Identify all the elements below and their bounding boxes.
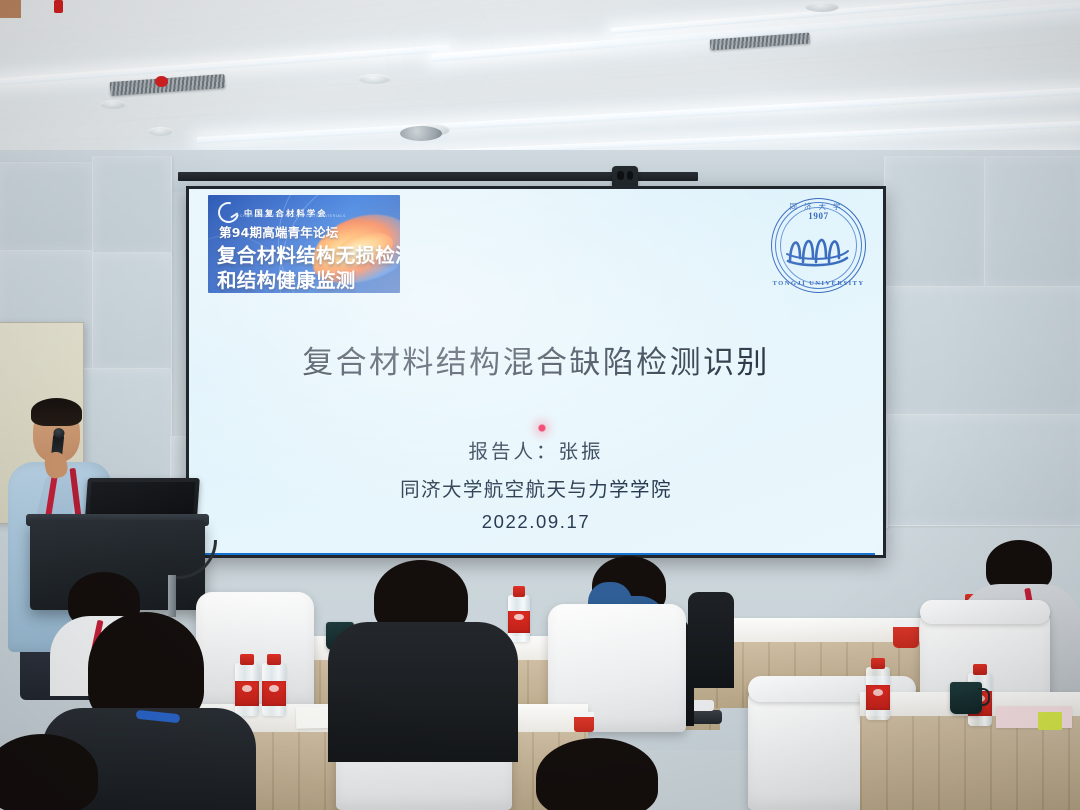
water-bottle <box>508 586 530 642</box>
slide-accent-rule <box>197 553 875 555</box>
chair-headrest <box>920 600 1050 624</box>
conference-presentation-photo: 中国复合材料学会 CHINESE SOCIETY FOR COMPOSITE M… <box>0 0 1080 810</box>
presenter-neck <box>0 0 21 18</box>
sticky-note <box>1038 712 1062 730</box>
wall-panel <box>884 156 986 288</box>
wall-panel <box>984 156 1080 288</box>
bottle-cap <box>513 586 525 597</box>
fire-sprinkler-icon <box>54 0 63 13</box>
wall-panel <box>92 156 172 254</box>
table-skirt <box>860 716 1080 810</box>
slide-affiliation: 同济大学航空航天与力学学院 <box>189 473 883 502</box>
water-bottle <box>262 654 286 716</box>
bottle-cap <box>267 654 280 665</box>
paper-cup <box>893 620 919 648</box>
fire-sprinkler-icon <box>155 76 168 87</box>
conference-banner: 中国复合材料学会 CHINESE SOCIETY FOR COMPOSITE M… <box>208 195 400 293</box>
bottle-label <box>235 681 259 706</box>
mug <box>950 682 982 714</box>
bottle-cap <box>871 658 884 669</box>
bottle-label <box>262 681 286 706</box>
slide-title: 复合材料结构混合缺陷检测识别 <box>189 337 883 382</box>
ceiling-downlight <box>100 100 126 109</box>
banner-topic-line-2: 和结构健康监测 <box>217 264 356 293</box>
audience-shoulders <box>328 622 518 762</box>
slide-presenter: 报告人：张振 <box>189 435 883 464</box>
seal-boat-icon <box>785 224 852 268</box>
seal-founded-year: 1907 <box>771 211 866 221</box>
water-bottle <box>866 658 890 720</box>
paper-cup <box>574 712 594 732</box>
ceiling-downlight <box>358 74 391 84</box>
tongji-seal-icon: 同济大学 1907 TONGJI UNIVERSITY <box>771 198 866 293</box>
society-name-en: CHINESE SOCIETY FOR COMPOSITE MATERIALS <box>240 214 346 218</box>
wall-panel <box>0 162 94 252</box>
equipment-stand <box>168 575 176 617</box>
wall-panel <box>884 286 1080 416</box>
laser-dot-icon <box>538 424 546 432</box>
bottle-cap <box>240 654 253 665</box>
slide-date: 2022.09.17 <box>189 511 883 533</box>
bottle-label <box>866 685 890 710</box>
ceiling-downlight <box>805 2 839 12</box>
bottle-label <box>508 611 530 633</box>
presenter-hair <box>31 398 82 426</box>
seal-university-en: TONGJI UNIVERSITY <box>771 280 866 287</box>
audience-shoulders <box>688 592 734 688</box>
audience-hair <box>536 738 658 810</box>
water-bottle <box>235 654 259 716</box>
wall-panel <box>92 252 172 370</box>
ceiling-downlight <box>148 127 173 136</box>
bottle-cap <box>973 664 986 675</box>
camera-icon <box>612 166 638 188</box>
projection-screen: 中国复合材料学会 CHINESE SOCIETY FOR COMPOSITE M… <box>186 186 886 558</box>
society-logo-row: 中国复合材料学会 <box>218 202 328 223</box>
presenter <box>0 0 21 18</box>
ceiling-speaker-icon <box>400 126 442 141</box>
wall-panel <box>884 414 1080 526</box>
slide-surface: 中国复合材料学会 CHINESE SOCIETY FOR COMPOSITE M… <box>189 189 883 555</box>
